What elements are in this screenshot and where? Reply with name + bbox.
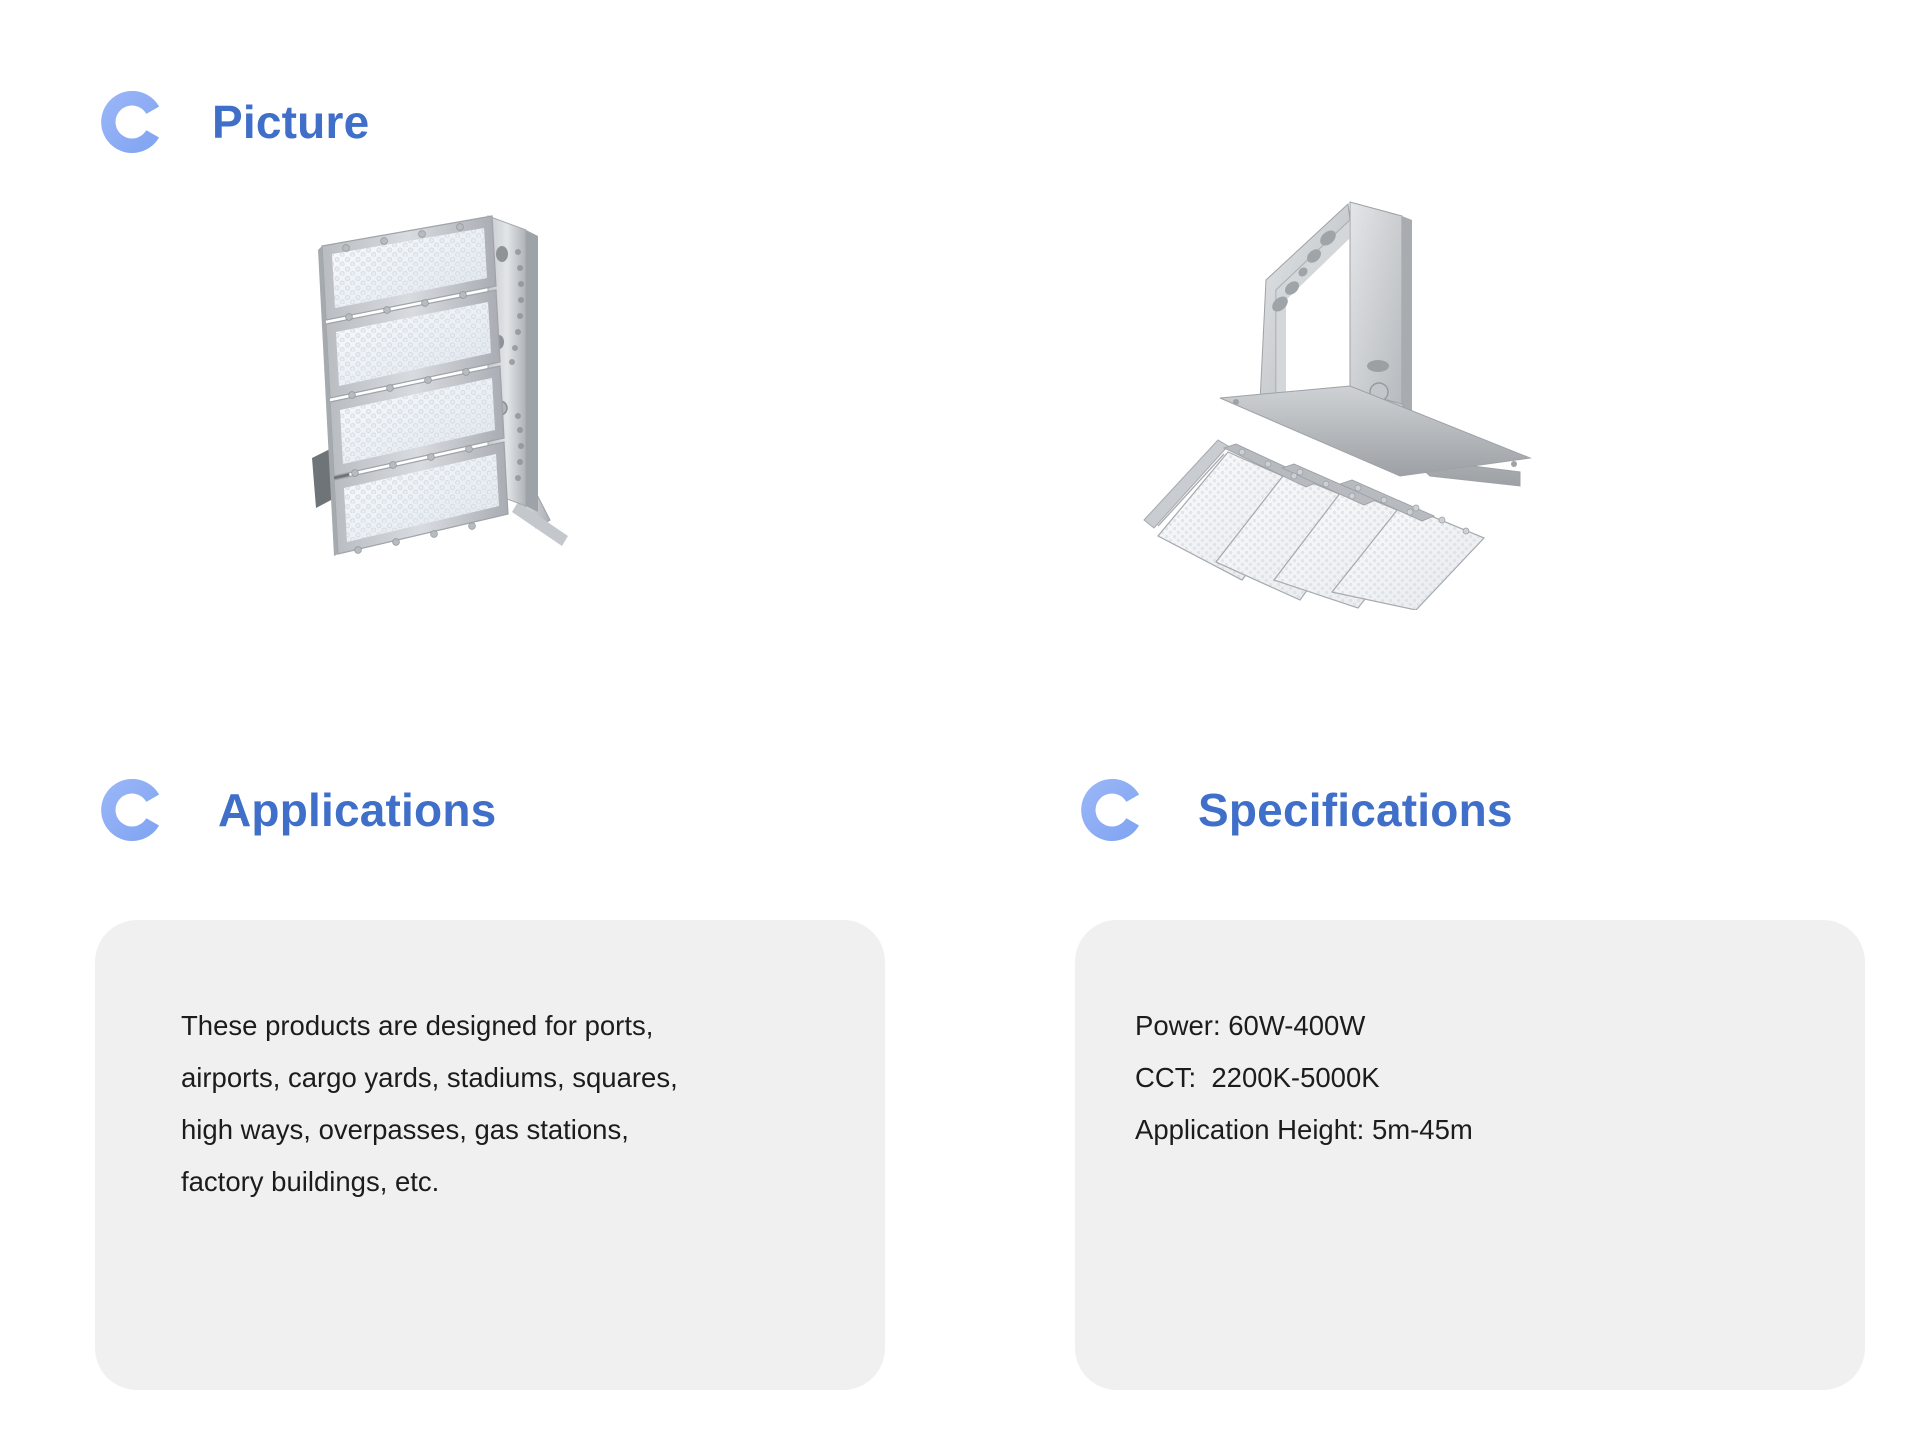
section-header-specifications: Specifications [1076,774,1513,846]
applications-line: factory buildings, etc. [181,1156,885,1208]
section-header-picture: Picture [96,86,369,158]
product-image-led-flood-light-bracket-render [1100,190,1560,610]
section-header-applications: Applications [96,774,496,846]
applications-line: These products are designed for ports, [181,1000,885,1052]
spec-line-cct: CCT: 2200K-5000K [1135,1052,1865,1104]
specifications-card: Power: 60W-400W CCT: 2200K-5000K Applica… [1075,920,1865,1390]
applications-text-block: These products are designed for ports, a… [95,920,885,1208]
applications-line: airports, cargo yards, stadiums, squares… [181,1052,885,1104]
applications-line: high ways, overpasses, gas stations, [181,1104,885,1156]
picture-gallery [0,190,1920,610]
section-title-specifications: Specifications [1198,787,1513,833]
spec-line-application-height: Application Height: 5m-45m [1135,1104,1865,1156]
brand-c-ring-icon [96,774,168,846]
brand-c-ring-icon [1076,774,1148,846]
section-title-applications: Applications [218,787,496,833]
product-info-page: Picture [0,0,1920,1440]
specifications-text-block: Power: 60W-400W CCT: 2200K-5000K Applica… [1075,920,1865,1156]
section-title-picture: Picture [212,99,369,145]
applications-card: These products are designed for ports, a… [95,920,885,1390]
spec-line-power: Power: 60W-400W [1135,1000,1865,1052]
product-image-led-flood-light-4-module-front [250,190,670,610]
brand-c-ring-icon [96,86,168,158]
